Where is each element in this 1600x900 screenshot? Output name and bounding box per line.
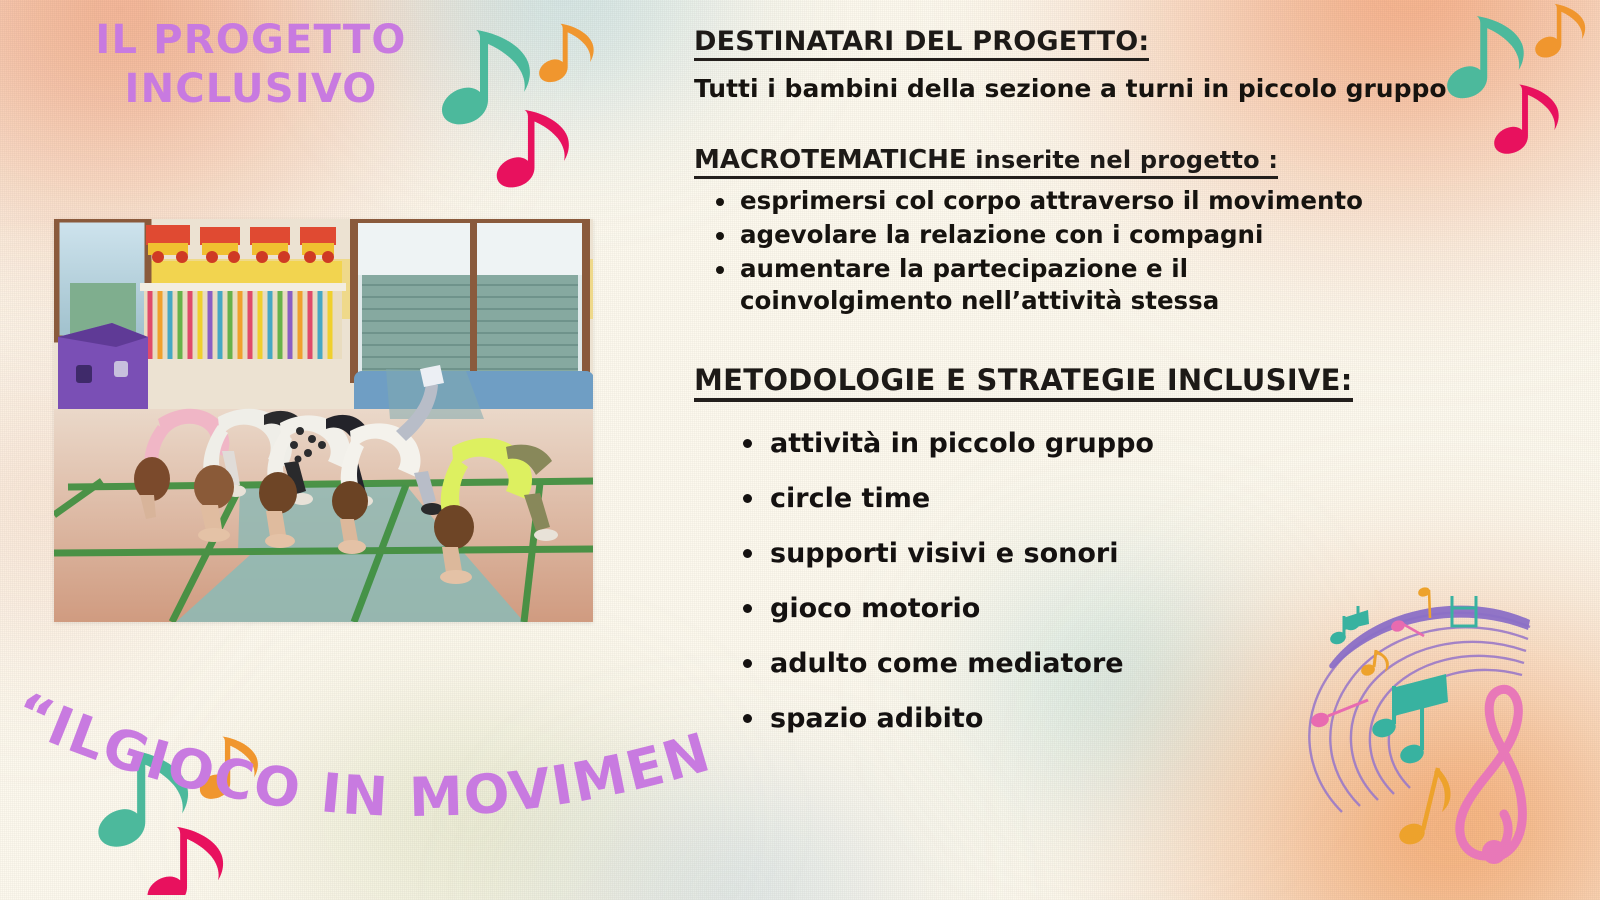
treble-clef-icon bbox=[1482, 840, 1506, 864]
classroom-photo bbox=[54, 219, 593, 622]
music-note-icon bbox=[1397, 768, 1451, 848]
list-item: supporti visivi e sonori bbox=[770, 540, 1494, 567]
macrotematiche-heading-rest: inserite nel progetto : bbox=[967, 146, 1279, 174]
list-item: gioco motorio bbox=[770, 595, 1494, 622]
metodologie-heading: METODOLOGIE E STRATEGIE INCLUSIVE: bbox=[694, 365, 1353, 402]
macrotematiche-heading-strong: MACROTEMATICHE bbox=[694, 145, 967, 175]
list-item: agevolare la relazione con i compagni bbox=[740, 219, 1494, 251]
page-title-line-1: IL PROGETTO bbox=[66, 16, 436, 65]
page-title-line-2: INCLUSIVO bbox=[66, 65, 436, 114]
curved-subtitle: “ILGIOCO IN MOVIMENTO” bbox=[0, 655, 740, 900]
curved-subtitle-textpath: “ILGIOCO IN MOVIMENTO” bbox=[0, 655, 718, 829]
content-column: DESTINATARI DEL PROGETTO: Tutti i bambin… bbox=[694, 28, 1494, 760]
list-item: aumentare la partecipazione e il coinvol… bbox=[740, 253, 1300, 317]
slide-canvas: IL PROGETTO INCLUSIVO bbox=[0, 0, 1600, 900]
music-note-icon bbox=[539, 24, 594, 83]
list-item: spazio adibito bbox=[770, 705, 1494, 732]
list-item: esprimersi col corpo attraverso il movim… bbox=[740, 185, 1494, 217]
music-note-icon bbox=[1535, 4, 1585, 58]
music-note-icon bbox=[497, 110, 569, 187]
macrotematiche-heading: MACROTEMATICHE inserite nel progetto : bbox=[694, 147, 1278, 179]
curved-subtitle-text: “ILGIOCO IN MOVIMENTO” bbox=[0, 655, 718, 829]
music-note-cluster-top-left bbox=[424, 8, 604, 198]
destinatari-body: Tutti i bambini della sezione a turni in… bbox=[694, 71, 1484, 107]
music-note-icon bbox=[442, 30, 530, 124]
music-note-icon bbox=[1494, 85, 1558, 154]
list-item: adulto come mediatore bbox=[770, 650, 1494, 677]
list-item: circle time bbox=[770, 485, 1494, 512]
page-title: IL PROGETTO INCLUSIVO bbox=[66, 16, 436, 114]
macrotematiche-list: esprimersi col corpo attraverso il movim… bbox=[694, 185, 1494, 316]
list-item: attività in piccolo gruppo bbox=[770, 430, 1494, 457]
destinatari-heading: DESTINATARI DEL PROGETTO: bbox=[694, 28, 1149, 61]
metodologie-list: attività in piccolo gruppo circle time s… bbox=[694, 430, 1494, 732]
